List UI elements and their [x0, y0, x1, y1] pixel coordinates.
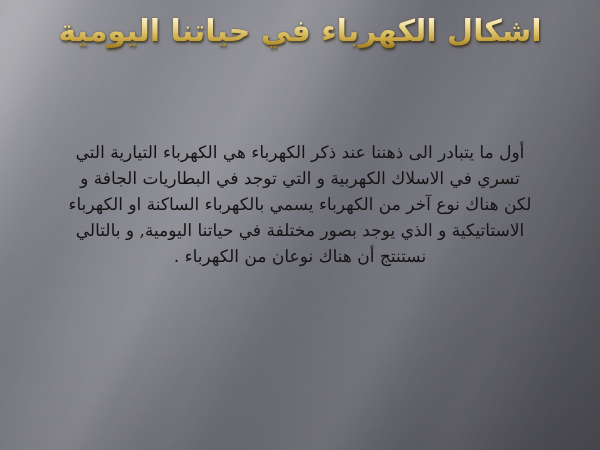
- body-line-5: نستنتج أن هناك نوعان من الكهرباء .: [40, 244, 560, 270]
- body-line-1: أول ما يتبادر الى ذهننا عند ذكر الكهرباء…: [40, 140, 560, 166]
- slide-title: اشكال الكهرباء في حياتنا اليومية: [58, 14, 541, 49]
- slide-body-text: أول ما يتبادر الى ذهننا عند ذكر الكهرباء…: [40, 140, 560, 270]
- slide-title-container: اشكال الكهرباء في حياتنا اليومية: [0, 14, 600, 49]
- presentation-slide: اشكال الكهرباء في حياتنا اليومية أول ما …: [0, 0, 600, 450]
- body-line-3: لكن هناك نوع آخر من الكهرباء يسمي بالكهر…: [40, 192, 560, 218]
- body-line-4: الاستاتيكية و الذي يوجد بصور مختلفة في ح…: [40, 218, 560, 244]
- body-line-2: تسري في الاسلاك الكهربية و التي توجد في …: [40, 166, 560, 192]
- slide-body-container: أول ما يتبادر الى ذهننا عند ذكر الكهرباء…: [40, 140, 560, 270]
